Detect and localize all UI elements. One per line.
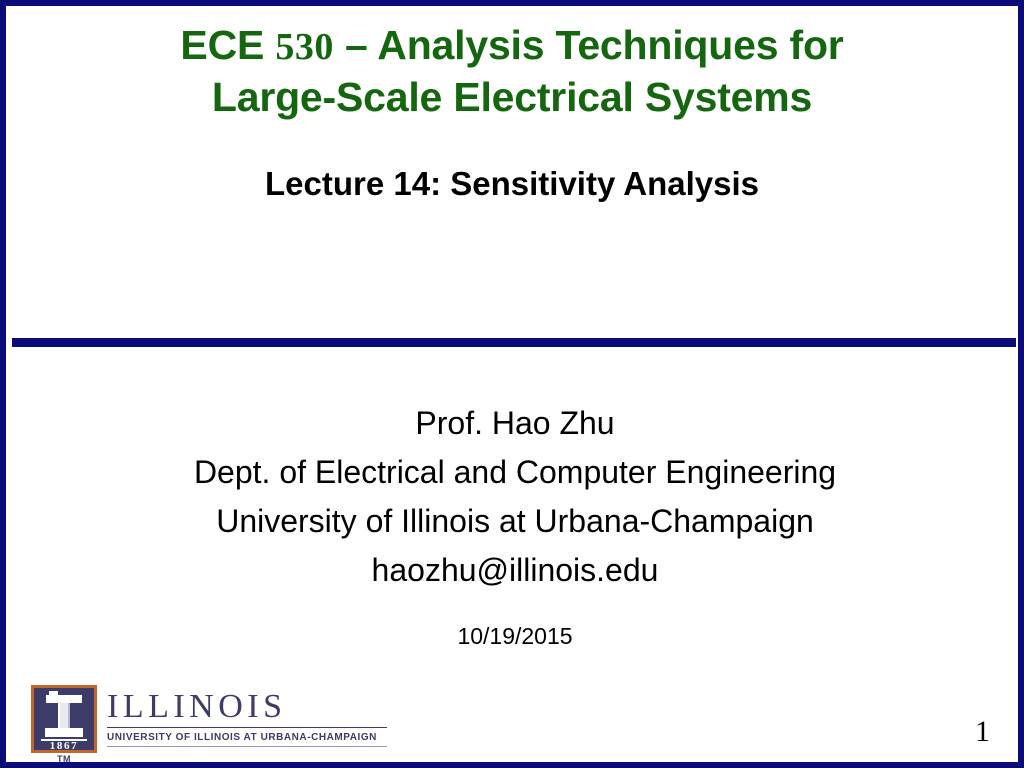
emblem-year-label: 1867 — [34, 740, 94, 752]
course-title-prefix: ECE — [180, 22, 275, 68]
wordmark-illinois: ILLINOIS — [107, 689, 391, 725]
lecture-title: Lecture 14: Sensitivity Analysis — [12, 164, 1012, 204]
emblem-column-capital — [46, 695, 82, 703]
presenter-email: haozhu@illinois.edu — [12, 546, 1018, 595]
title-block: ECE 530 – Analysis Techniques for Large-… — [12, 20, 1012, 204]
presenter-block: Prof. Hao Zhu Dept. of Electrical and Co… — [12, 399, 1018, 650]
presentation-date: 10/19/2015 — [12, 622, 1018, 650]
emblem-column-base — [45, 728, 83, 737]
wordmark-rule-top — [107, 727, 387, 728]
course-title-line1: ECE 530 – Analysis Techniques for — [12, 20, 1012, 72]
slide-canvas: ECE 530 – Analysis Techniques for Large-… — [0, 0, 1024, 768]
course-title-suffix: – Analysis Techniques for — [334, 22, 844, 68]
page-number: 1 — [975, 716, 990, 748]
presenter-university: University of Illinois at Urbana-Champai… — [12, 497, 1018, 546]
course-number: 530 — [275, 26, 334, 68]
presenter-department: Dept. of Electrical and Computer Enginee… — [12, 448, 1018, 497]
presenter-name: Prof. Hao Zhu — [12, 399, 1018, 448]
wordmark-subtitle: UNIVERSITY OF ILLINOIS AT URBANA-CHAMPAI… — [107, 731, 391, 745]
title-divider-rule — [12, 338, 1016, 347]
trademark-label: TM — [31, 754, 97, 764]
emblem-column-shaft — [58, 703, 70, 728]
illinois-wordmark: ILLINOIS UNIVERSITY OF ILLINOIS AT URBAN… — [107, 689, 391, 747]
illinois-emblem-icon: 1867 — [31, 685, 97, 753]
wordmark-rule-bottom — [107, 746, 387, 747]
course-title-line2: Large-Scale Electrical Systems — [12, 72, 1012, 122]
illinois-logo: 1867 TM ILLINOIS UNIVERSITY OF ILLINOIS … — [31, 685, 391, 765]
